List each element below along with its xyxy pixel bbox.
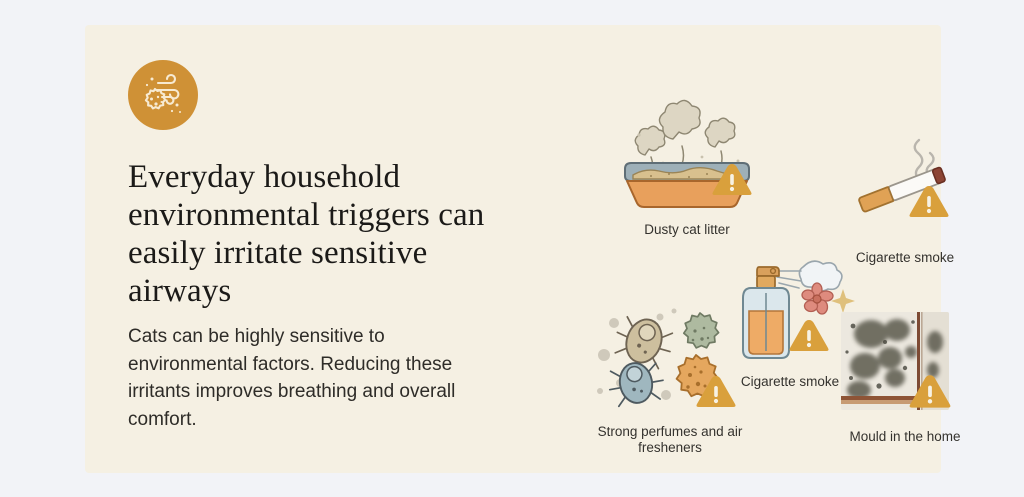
- text-column: Everyday household environmental trigger…: [128, 60, 518, 433]
- warning-triangle-icon: [694, 373, 738, 413]
- warning-triangle-icon: [907, 183, 951, 223]
- illustration-column: Dusty cat litter: [515, 53, 935, 453]
- trigger-item-mould-in-home: Mould in the home: [835, 308, 975, 445]
- warning-triangle-icon: [787, 317, 831, 357]
- trigger-item-cigarette-smoke: Cigarette smoke: [845, 123, 965, 266]
- trigger-label: Cigarette smoke: [845, 250, 965, 266]
- warning-triangle-icon: [710, 161, 754, 201]
- trigger-label: Strong perfumes and air fresheners: [590, 424, 750, 456]
- content-card: Everyday household environmental trigger…: [85, 25, 941, 473]
- trigger-label: Mould in the home: [835, 429, 975, 445]
- trigger-item-dusty-cat-litter: Dusty cat litter: [607, 95, 767, 238]
- page-title: Everyday household environmental trigger…: [128, 158, 500, 310]
- page-subtext: Cats can be highly sensitive to environm…: [128, 323, 473, 433]
- slide-root: Everyday household environmental trigger…: [0, 0, 1024, 497]
- trigger-label: Dusty cat litter: [607, 222, 767, 238]
- mould-wall-icon: [835, 308, 975, 425]
- litter-box-dust-icon: [607, 95, 767, 218]
- trigger-item-strong-perfumes: Strong perfumes and air fresheners: [590, 305, 750, 456]
- cigarette-smoke-icon: [845, 123, 965, 246]
- warning-triangle-icon: [907, 372, 953, 414]
- dust-mites-icon: [590, 305, 750, 420]
- wind-allergen-icon: [128, 60, 198, 130]
